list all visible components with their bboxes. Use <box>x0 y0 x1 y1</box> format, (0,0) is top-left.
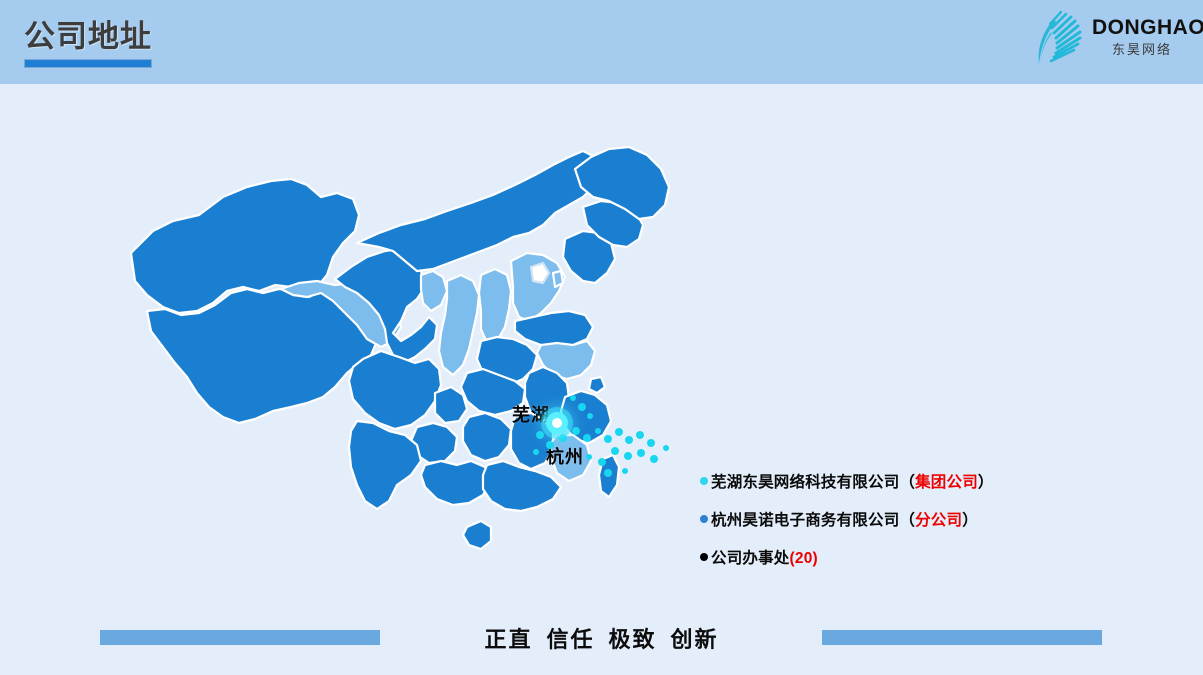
office-dot-2 <box>587 413 593 419</box>
city-label-wuhu: 芜湖 <box>512 401 550 427</box>
office-dot-10 <box>604 435 612 443</box>
motto-word-3: 极致 <box>609 627 657 652</box>
legend-tag-2: 分公司 <box>915 512 962 529</box>
legend: 芜湖东昊网络科技有限公司（集团公司） 杭州昊诺电子商务有限公司（分公司） 公司办… <box>700 462 1100 576</box>
province-hainan <box>463 521 491 549</box>
office-dot-19 <box>598 458 606 466</box>
page-title-block: 公司地址 <box>24 17 152 68</box>
legend-company-name-1: 芜湖东昊网络科技有限公司 <box>711 474 899 491</box>
headquarters-hub-core <box>552 418 562 428</box>
office-dot-18 <box>650 455 658 463</box>
slide-root: 公司地址 <box>0 0 1203 675</box>
legend-item-branch-company: 杭州昊诺电子商务有限公司（分公司） <box>700 500 1100 538</box>
legend-company-name-3: 公司办事处 <box>711 550 790 567</box>
legend-label-2: 杭州昊诺电子商务有限公司（分公司） <box>711 508 978 530</box>
office-dot-7 <box>572 427 580 435</box>
office-dot-12 <box>625 436 633 444</box>
legend-company-name-2: 杭州昊诺电子商务有限公司 <box>711 512 899 529</box>
office-dot-23 <box>604 469 612 477</box>
office-dot-21 <box>663 445 669 451</box>
office-dot-17 <box>637 449 645 457</box>
province-guangxi <box>421 461 491 505</box>
legend-label-1: 芜湖东昊网络科技有限公司（集团公司） <box>711 470 994 492</box>
motto-word-2: 信任 <box>546 627 594 652</box>
legend-item-offices: 公司办事处(20) <box>700 538 1100 576</box>
office-dot-11 <box>615 428 623 436</box>
slide-header: 公司地址 <box>0 0 1203 84</box>
province-yunnan <box>349 421 421 509</box>
office-dot-1 <box>578 403 586 411</box>
title-underline <box>24 59 152 68</box>
legend-tag-3: (20) <box>790 550 818 567</box>
motto-word-4: 创新 <box>671 627 719 652</box>
china-map: 芜湖 杭州 <box>95 135 715 605</box>
office-dot-5 <box>546 441 554 449</box>
province-ningxia <box>421 271 447 311</box>
office-dot-13 <box>636 431 644 439</box>
motto-word-1: 正直 <box>484 627 532 652</box>
office-dot-16 <box>624 452 632 460</box>
logo-english-name: DONGHAO <box>1092 16 1192 40</box>
logo-text-block: DONGHAO 东昊网络 <box>1092 16 1192 58</box>
logo-chinese-name: 东昊网络 <box>1092 41 1192 58</box>
legend-bullet-cyan-icon <box>700 477 708 485</box>
office-dot-24 <box>622 468 628 474</box>
legend-label-3: 公司办事处(20) <box>711 546 818 568</box>
company-logo: DONGHAO 东昊网络 <box>1030 8 1193 70</box>
office-dot-14 <box>647 439 655 447</box>
legend-bullet-blue-icon <box>700 515 708 523</box>
page-title: 公司地址 <box>24 17 152 57</box>
province-shanxi <box>479 269 511 343</box>
province-hunan <box>463 413 511 461</box>
office-dot-15 <box>611 447 619 455</box>
china-map-svg <box>95 135 715 605</box>
province-tianjin <box>553 271 563 287</box>
office-dot-22 <box>533 449 539 455</box>
legend-bullet-black-icon <box>700 553 708 561</box>
province-sichuan <box>349 351 441 429</box>
legend-item-group-company: 芜湖东昊网络科技有限公司（集团公司） <box>700 462 1100 500</box>
office-dot-4 <box>536 431 544 439</box>
footer-motto: 正直信任极致创新 <box>0 622 1203 654</box>
office-dot-6 <box>559 434 567 442</box>
province-shanghai <box>589 377 605 393</box>
office-dot-20 <box>586 454 592 460</box>
office-dot-8 <box>583 434 591 442</box>
feather-wing-icon <box>1030 8 1092 70</box>
legend-tag-1: 集团公司 <box>915 474 978 491</box>
office-dot-9 <box>595 428 601 434</box>
office-dot-3 <box>570 395 576 401</box>
